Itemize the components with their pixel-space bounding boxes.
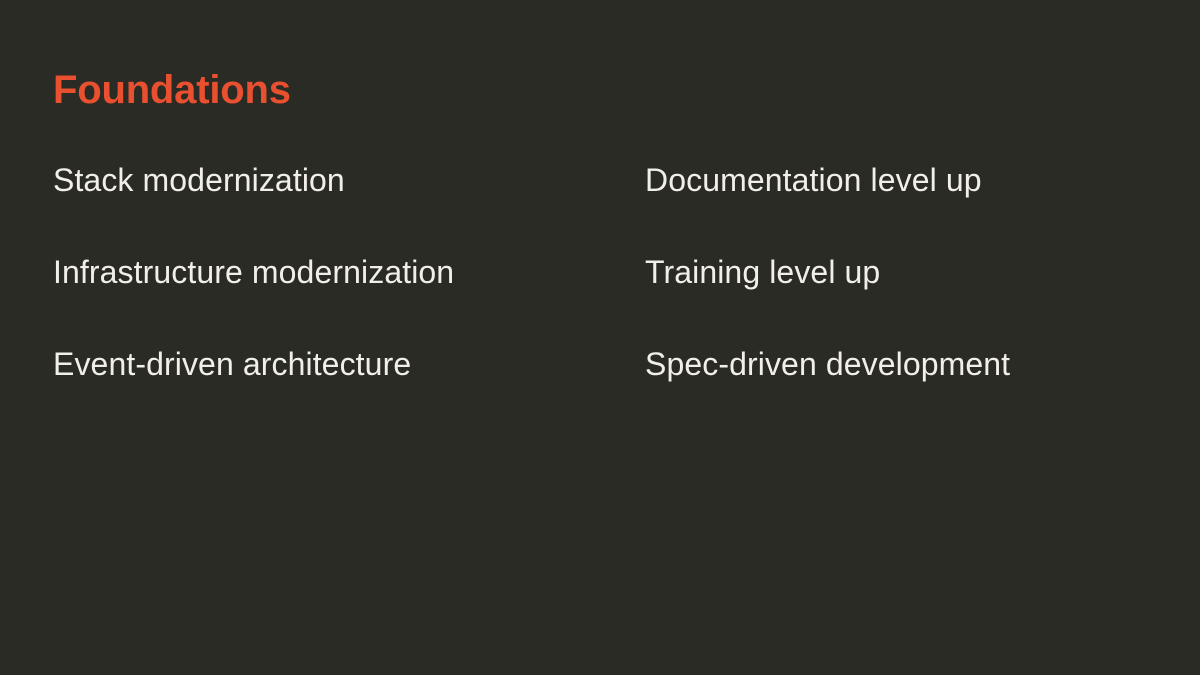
presentation-slide: Foundations Stack modernization Document… bbox=[0, 0, 1200, 675]
foundations-item-spec-driven-development: Spec-driven development bbox=[645, 342, 1153, 386]
foundations-item-training-level-up: Training level up bbox=[645, 250, 1153, 294]
foundations-item-infrastructure-modernization: Infrastructure modernization bbox=[53, 250, 645, 294]
slide-title: Foundations bbox=[53, 68, 291, 113]
foundations-item-documentation-level-up: Documentation level up bbox=[645, 158, 1153, 202]
foundations-item-grid: Stack modernization Documentation level … bbox=[53, 158, 1153, 434]
foundations-item-event-driven-architecture: Event-driven architecture bbox=[53, 342, 645, 386]
foundations-item-stack-modernization: Stack modernization bbox=[53, 158, 645, 202]
